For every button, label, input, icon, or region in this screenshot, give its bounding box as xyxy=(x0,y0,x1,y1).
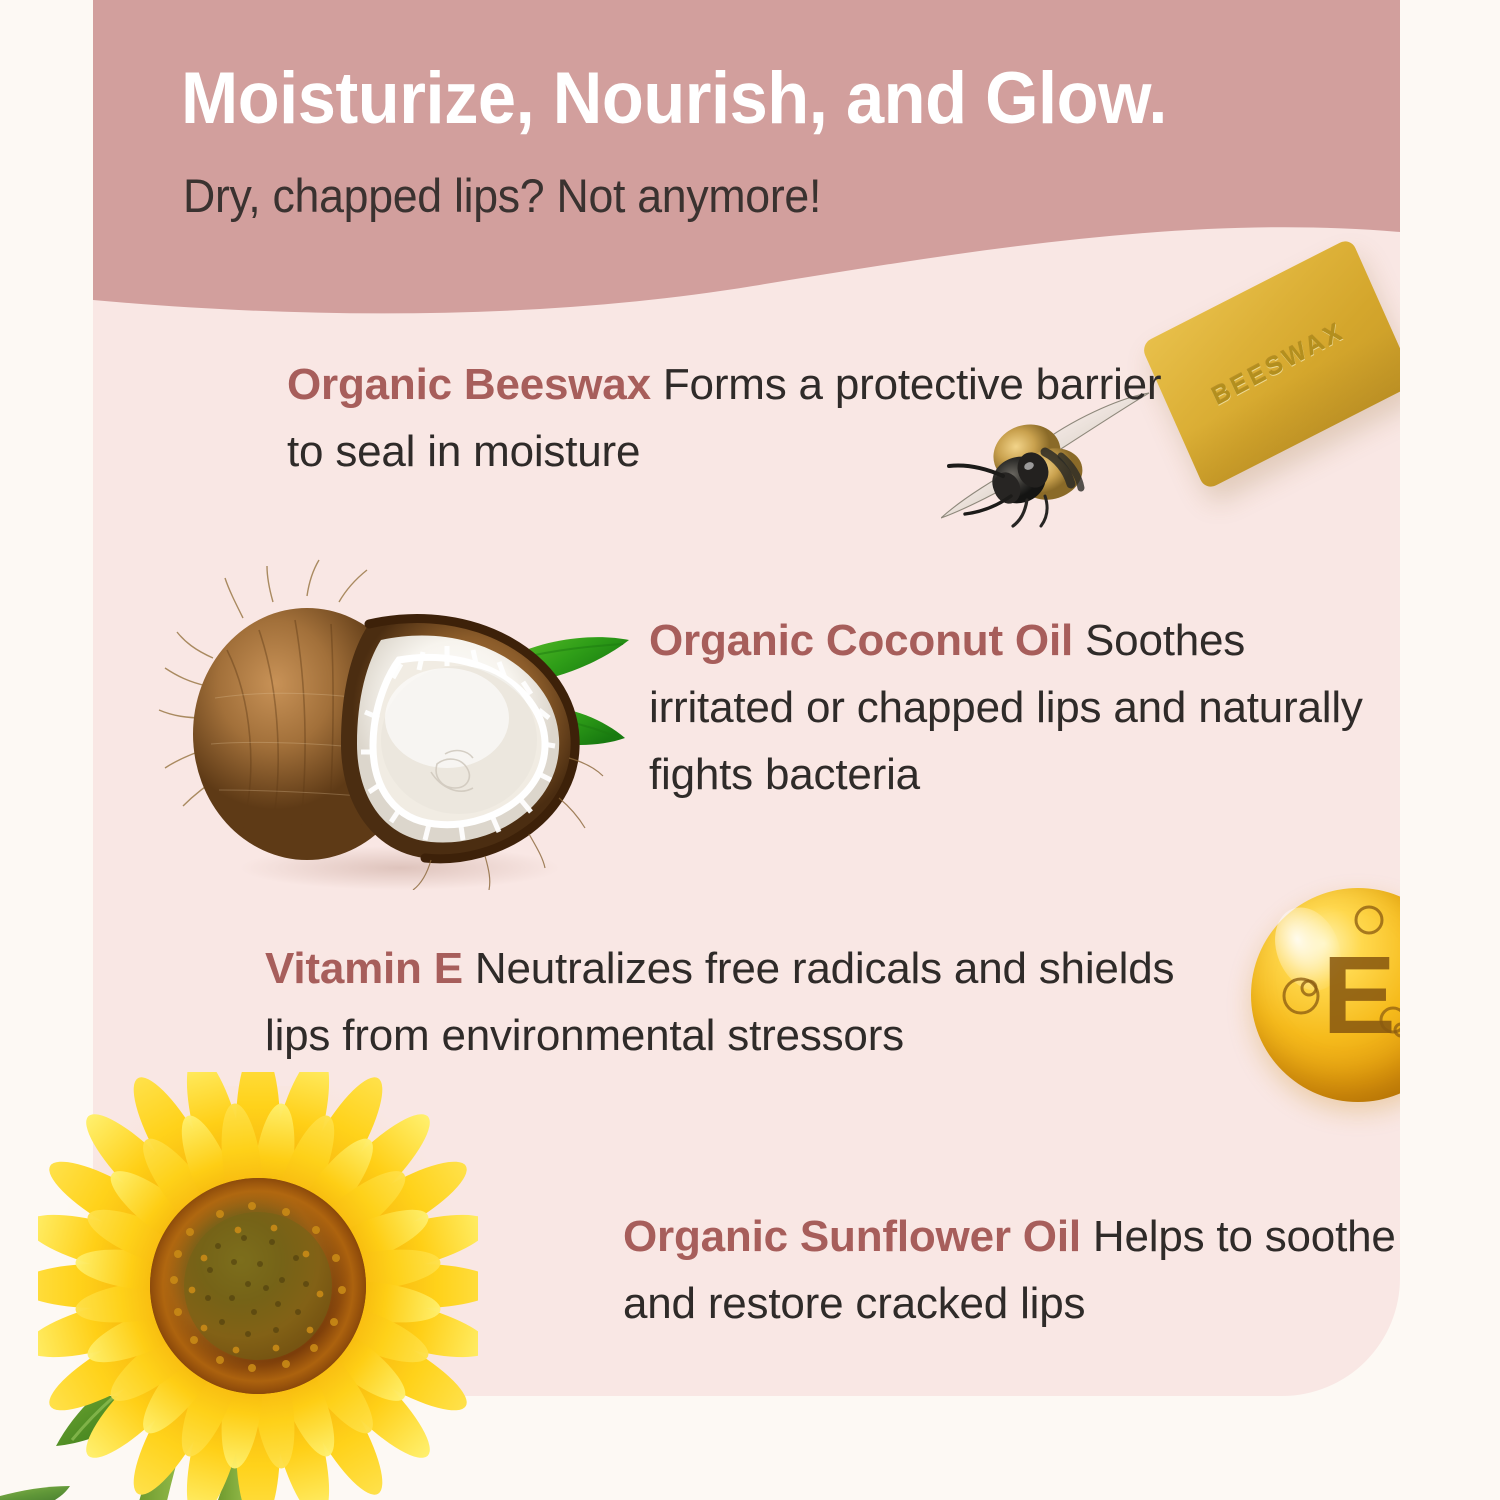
vitamin-e-droplet-graphic: E xyxy=(1229,876,1400,1134)
ingredient-beeswax-name: Organic Beeswax xyxy=(287,360,651,409)
ingredient-sunflower-oil: Organic Sunflower Oil Helps to soothe an… xyxy=(623,1204,1400,1338)
ingredient-vitamin-e: Vitamin E Neutralizes free radicals and … xyxy=(265,936,1245,1070)
infographic-canvas: Moisturize, Nourish, and Glow. Dry, chap… xyxy=(0,0,1500,1500)
ingredient-sunflower-oil-name: Organic Sunflower Oil xyxy=(623,1212,1081,1261)
vitamin-e-letter: E xyxy=(1322,932,1393,1059)
beeswax-label-text: BEESWAX xyxy=(1207,317,1348,412)
page-title: Moisturize, Nourish, and Glow. xyxy=(181,62,1300,135)
sunflower-graphic xyxy=(38,1072,478,1500)
page-subtitle: Dry, chapped lips? Not anymore! xyxy=(183,172,1228,219)
vitamin-e-letter-wrap: E xyxy=(1251,888,1400,1102)
ingredient-coconut-oil-name: Organic Coconut Oil xyxy=(649,616,1073,665)
coconut-graphic xyxy=(155,558,635,890)
ingredient-beeswax: Organic Beeswax Forms a protective barri… xyxy=(287,352,1187,486)
ingredient-coconut-oil: Organic Coconut Oil Soothes irritated or… xyxy=(649,608,1389,809)
ingredient-vitamin-e-name: Vitamin E xyxy=(265,944,463,993)
